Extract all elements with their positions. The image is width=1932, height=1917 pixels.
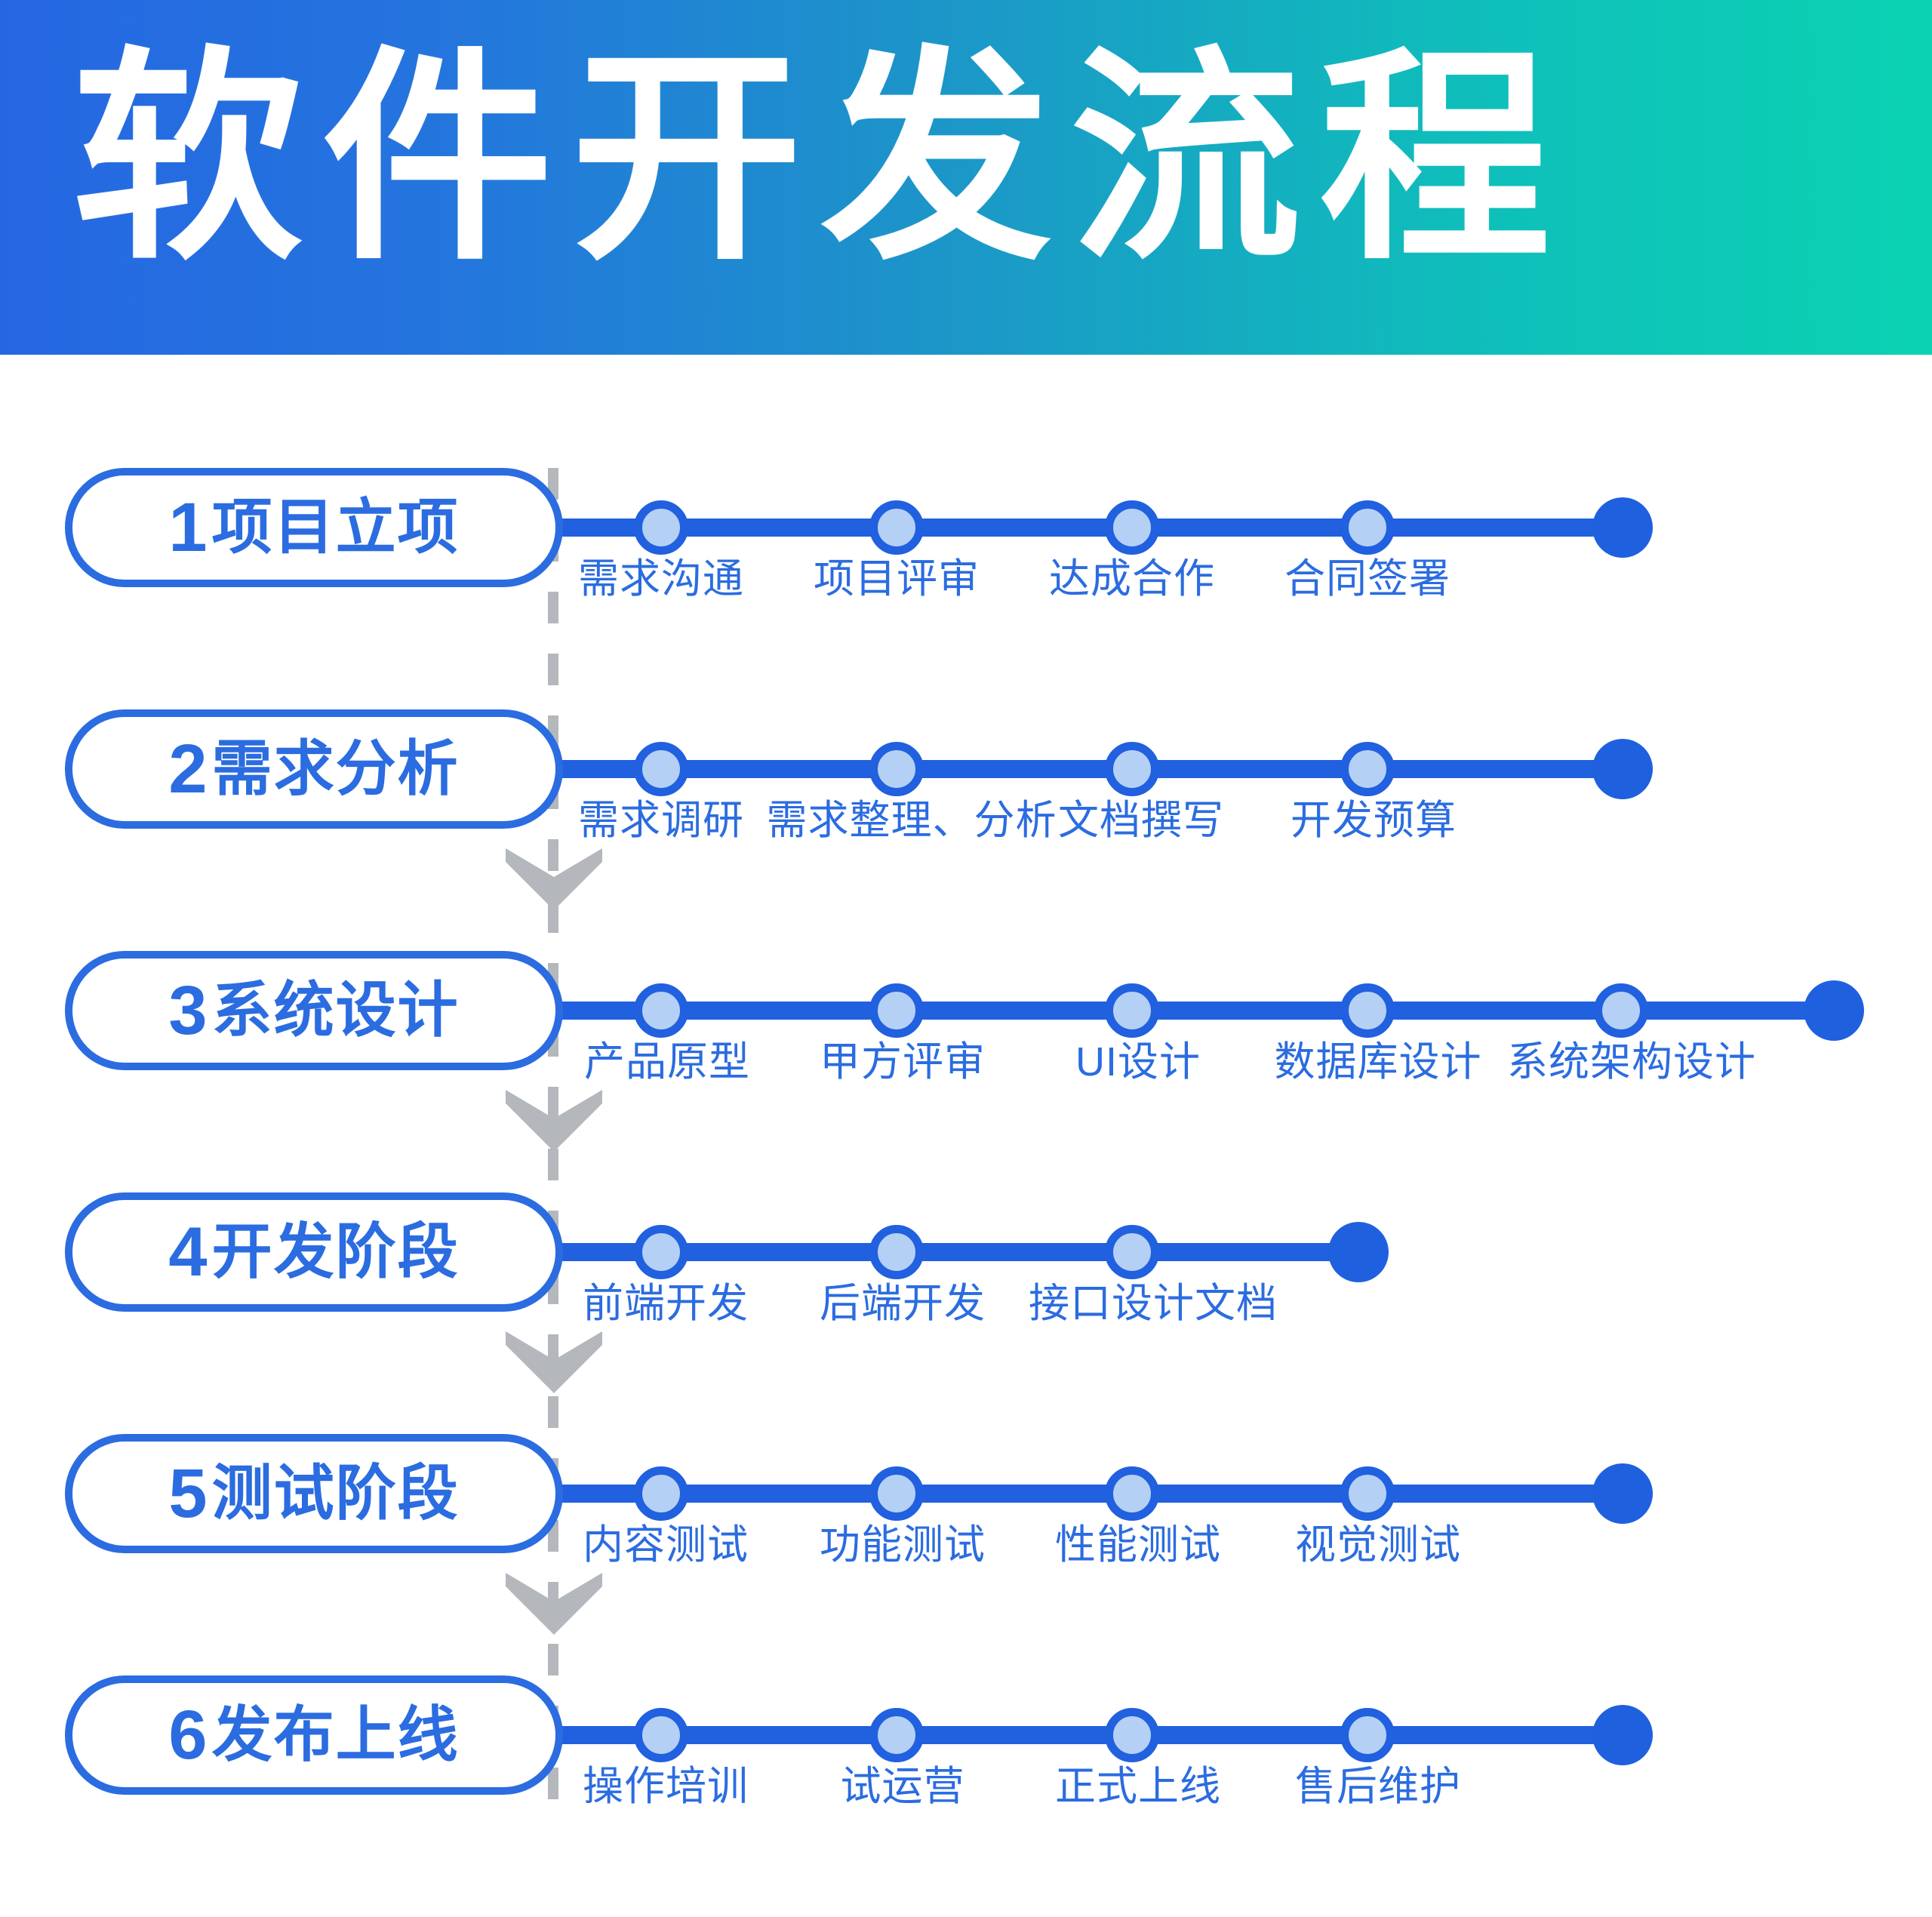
stage-pill-4[interactable]: 4 开发阶段: [65, 1192, 563, 1312]
timeline-node[interactable]: [634, 1466, 688, 1521]
timeline-node-label: UI设计: [1075, 1042, 1201, 1082]
timeline-node[interactable]: [869, 500, 924, 555]
stage-number: 5: [168, 1459, 207, 1528]
timeline-node-label: 数据库设计: [1275, 1042, 1482, 1082]
timeline-node[interactable]: [869, 1708, 924, 1762]
timeline-node[interactable]: [1340, 1708, 1395, 1762]
timeline-node-label: 产品原型: [584, 1042, 750, 1082]
timeline-node[interactable]: [1340, 500, 1395, 555]
timeline-node-label: 需求调研: [578, 800, 744, 841]
stage-pill-5[interactable]: 5 测试阶段: [65, 1434, 563, 1553]
timeline-node[interactable]: [1105, 1225, 1159, 1279]
timeline-node-label: 性能测试: [1055, 1525, 1221, 1565]
stage-number: 3: [168, 976, 207, 1045]
stage-pill-2[interactable]: 2 需求分析: [65, 709, 563, 829]
timeline-node-label: 售后维护: [1295, 1766, 1461, 1807]
timeline-node[interactable]: [869, 1225, 924, 1279]
stage-label: 开发阶段: [212, 1222, 460, 1282]
timeline-node[interactable]: [1105, 1708, 1159, 1762]
timeline-node[interactable]: [634, 742, 688, 796]
header-banner: 软件开发流程: [0, 0, 1932, 355]
stage-number: 6: [168, 1700, 207, 1770]
stage-number: 4: [168, 1217, 207, 1287]
timeline-node-label: 达成合作: [1049, 558, 1215, 599]
timeline-track: [558, 1726, 1638, 1744]
stage-label: 需求分析: [212, 739, 460, 799]
timeline-node-label: 项目评审: [814, 558, 980, 599]
timeline-node[interactable]: [1340, 1466, 1395, 1521]
timeline-node[interactable]: [1340, 983, 1395, 1038]
stage-label: 系统设计: [212, 980, 460, 1041]
timeline-node-label: 前端开发: [583, 1283, 749, 1324]
timeline-node-label: 正式上线: [1055, 1766, 1221, 1807]
flow-row: 5 测试阶段 内容测试 功能测试 性能测试 视觉测试: [0, 1434, 1932, 1675]
timeline-node-label: 甲方评审: [820, 1042, 986, 1082]
stage-pill-3[interactable]: 3 系统设计: [65, 951, 563, 1070]
stage-pill-1[interactable]: 1 项目立项: [65, 468, 563, 587]
timeline-node[interactable]: [869, 742, 924, 796]
timeline-end-node[interactable]: [1592, 1463, 1653, 1524]
timeline-node-label: 系统架构设计: [1507, 1042, 1756, 1082]
timeline-track: [558, 1002, 1841, 1020]
timeline-node[interactable]: [1105, 1466, 1159, 1521]
timeline-node-label: 功能测试: [820, 1525, 986, 1565]
timeline-node[interactable]: [1594, 983, 1648, 1038]
timeline-node-label: 需求整理、分析: [767, 800, 1057, 841]
page-title: 软件开发流程: [72, 36, 1569, 281]
timeline-end-node[interactable]: [1592, 1705, 1653, 1765]
timeline-node[interactable]: [1105, 983, 1159, 1038]
timeline-end-node[interactable]: [1592, 739, 1653, 799]
flow-row: 1 项目立项 需求沟通 项目评审 达成合作 合同签署: [0, 468, 1932, 709]
timeline-end-node[interactable]: [1328, 1222, 1389, 1282]
stage-label: 发布上线: [212, 1705, 460, 1765]
timeline-track: [558, 760, 1638, 778]
timeline-node[interactable]: [1340, 742, 1395, 796]
stage-label: 测试阶段: [212, 1463, 460, 1524]
timeline-track: [558, 1485, 1638, 1503]
timeline-node-label: 试运营: [841, 1766, 965, 1807]
timeline-node-label: 后端开发: [820, 1283, 986, 1324]
timeline-node-label: 开发预算: [1291, 800, 1457, 841]
stage-label: 项目立项: [212, 497, 460, 558]
stage-number: 1: [168, 493, 207, 562]
flow-row: 6 发布上线 操作培训 试运营 正式上线 售后维护: [0, 1675, 1932, 1917]
timeline-node-label: 内容测试: [583, 1525, 749, 1565]
timeline-node[interactable]: [869, 1466, 924, 1521]
flow-diagram: 1 项目立项 需求沟通 项目评审 达成合作 合同签署 2 需求分析 需求调研 需…: [0, 355, 1932, 1909]
timeline-node[interactable]: [634, 1708, 688, 1762]
timeline-node[interactable]: [634, 500, 688, 555]
timeline-node-label: 需求沟通: [578, 558, 744, 599]
timeline-node[interactable]: [1105, 500, 1159, 555]
timeline-node[interactable]: [634, 1225, 688, 1279]
timeline-node[interactable]: [634, 983, 688, 1038]
flow-row: 2 需求分析 需求调研 需求整理、分析 文档撰写 开发预算: [0, 709, 1932, 951]
timeline-node[interactable]: [869, 983, 924, 1038]
stage-pill-6[interactable]: 6 发布上线: [65, 1675, 563, 1795]
timeline-node-label: 接口设计文档: [1029, 1283, 1278, 1324]
timeline-node[interactable]: [1105, 742, 1159, 796]
timeline-node-label: 合同签署: [1284, 558, 1451, 599]
timeline-node-label: 视觉测试: [1295, 1525, 1461, 1565]
flow-row: 4 开发阶段 前端开发 后端开发 接口设计文档: [0, 1192, 1932, 1434]
timeline-end-node[interactable]: [1592, 497, 1653, 558]
stage-number: 2: [168, 734, 207, 804]
timeline-node-label: 操作培训: [583, 1766, 749, 1807]
timeline-node-label: 文档撰写: [1058, 800, 1224, 841]
flow-row: 3 系统设计 产品原型 甲方评审 UI设计 数据库设计 系统架构设计: [0, 951, 1932, 1192]
timeline-end-node[interactable]: [1804, 980, 1864, 1041]
timeline-track: [558, 518, 1638, 537]
